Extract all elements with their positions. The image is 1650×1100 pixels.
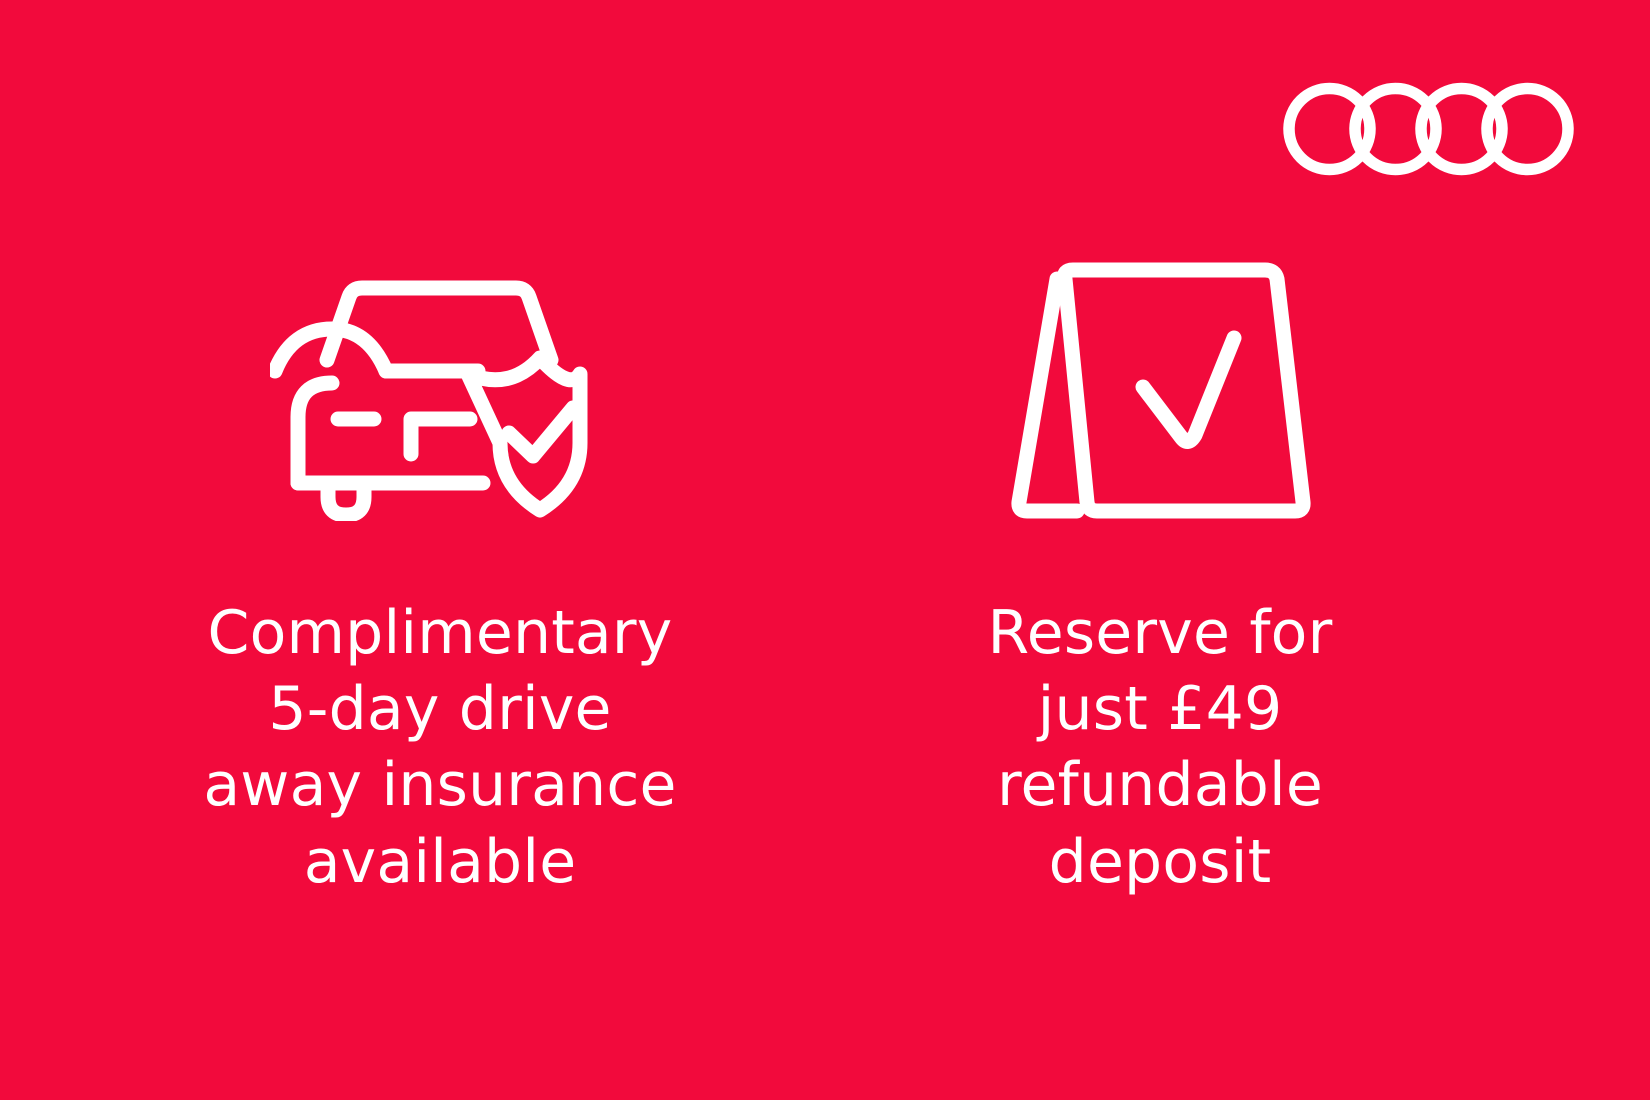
car-body-left-path	[298, 383, 332, 483]
shield-check-path	[509, 408, 573, 456]
feature-caption-deposit: Reserve for just £49 refundable deposit	[988, 595, 1333, 900]
car-roof-path	[327, 288, 551, 360]
promo-panel: Complimentary 5-day drive away insurance…	[0, 0, 1650, 1100]
tent-calendar-svg	[1005, 259, 1315, 521]
audi-rings-svg	[1283, 78, 1575, 180]
feature-complimentary-insurance: Complimentary 5-day drive away insurance…	[120, 255, 760, 900]
car-shield-svg	[270, 259, 610, 521]
audi-four-rings-icon	[1283, 78, 1575, 180]
feature-refundable-deposit: Reserve for just £49 refundable deposit	[840, 255, 1480, 900]
feature-caption-insurance: Complimentary 5-day drive away insurance…	[203, 595, 676, 900]
calendar-front-face-path	[1065, 270, 1303, 511]
car-shield-icon	[270, 255, 610, 525]
calendar-checkmark-path	[1143, 338, 1234, 442]
car-door-glyph-path	[411, 419, 470, 454]
tent-calendar-check-icon	[1005, 255, 1315, 525]
